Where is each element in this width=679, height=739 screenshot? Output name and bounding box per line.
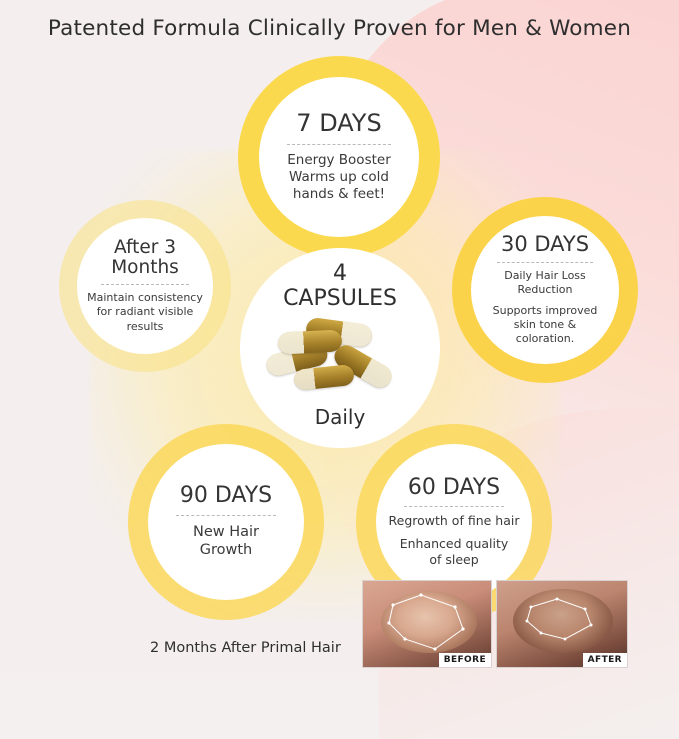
petal-60-days-body2: Enhanced quality of sleep <box>400 536 509 568</box>
before-photo: BEFORE <box>362 580 492 668</box>
petal-60-days-inner: 60 DAYS Regrowth of fine hair Enhanced q… <box>376 444 532 600</box>
divider <box>404 506 504 507</box>
capsule <box>277 330 342 355</box>
center-subtitle: Daily <box>315 405 366 429</box>
center-title-line1: 4 <box>333 262 347 287</box>
petal-7-days: 7 DAYS Energy Booster Warms up cold hand… <box>238 56 440 258</box>
petal-30-days-inner: 30 DAYS Daily Hair Loss Reduction Suppor… <box>471 216 619 364</box>
petal-after-3-months-body: Maintain consistency for radiant visible… <box>87 291 203 333</box>
after-label: AFTER <box>583 653 627 667</box>
petal-7-days-title: 7 DAYS <box>296 111 381 137</box>
center-title-line2: CAPSULES <box>283 287 397 312</box>
petal-60-days-title: 60 DAYS <box>408 476 500 500</box>
petal-90-days-inner: 90 DAYS New Hair Growth <box>148 444 304 600</box>
capsule <box>293 364 355 391</box>
petal-30-days-title: 30 DAYS <box>501 233 589 256</box>
divider <box>287 144 391 145</box>
divider <box>497 262 593 263</box>
petal-7-days-inner: 7 DAYS Energy Booster Warms up cold hand… <box>259 77 419 237</box>
before-after-photos: BEFORE AFTER <box>362 580 632 668</box>
capsule-half <box>277 330 342 355</box>
before-label: BEFORE <box>439 653 491 667</box>
divider <box>101 284 189 285</box>
after-photo: AFTER <box>496 580 628 668</box>
petal-30-days-body: Daily Hair Loss Reduction <box>481 269 609 297</box>
petal-after-3-months: After 3 Months Maintain consistency for … <box>59 200 231 372</box>
petal-30-days: 30 DAYS Daily Hair Loss Reduction Suppor… <box>452 197 638 383</box>
petal-90-days-body: New Hair Growth <box>193 523 259 561</box>
petal-90-days-title: 90 DAYS <box>180 484 272 508</box>
petal-7-days-body: Energy Booster Warms up cold hands & fee… <box>287 152 391 204</box>
page-title: Patented Formula Clinically Proven for M… <box>0 16 679 41</box>
petal-after-3-months-inner: After 3 Months Maintain consistency for … <box>77 218 213 354</box>
petal-90-days: 90 DAYS New Hair Growth <box>128 424 324 620</box>
divider <box>176 515 276 516</box>
bottom-caption: 2 Months After Primal Hair <box>150 640 380 656</box>
petal-after-3-months-title: After 3 Months <box>111 238 179 278</box>
capsules-photo <box>260 315 420 401</box>
petal-30-days-body2: Supports improved skin tone & coloration… <box>493 304 598 346</box>
center-circle: 4 CAPSULES Daily <box>240 248 440 448</box>
capsule-half <box>293 364 355 391</box>
petal-60-days-body: Regrowth of fine hair <box>389 513 520 529</box>
